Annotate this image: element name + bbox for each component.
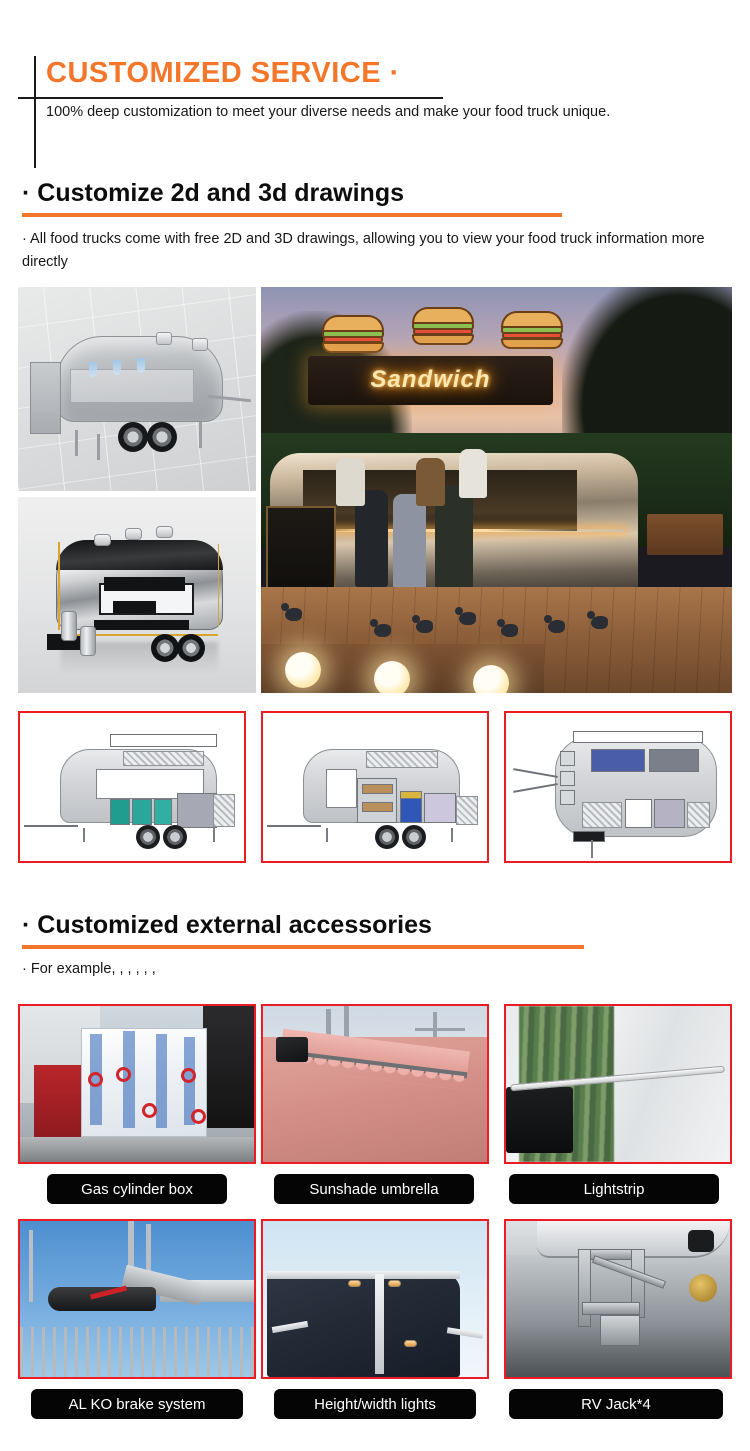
truck-dark-panel [203, 1006, 254, 1128]
jack-foot [600, 1315, 640, 1346]
jack-arm [578, 1249, 591, 1327]
section-2-title: · Customized external accessories [22, 910, 432, 943]
support-leg [591, 840, 593, 858]
power-pylon [29, 1230, 33, 1302]
banner-subtitle: 100% deep customization to meet your div… [46, 101, 706, 124]
globe-light [374, 661, 410, 693]
wheel [136, 825, 160, 849]
appliance-top [400, 791, 422, 798]
logo-ring [116, 1067, 131, 1082]
trailer-wheel [118, 422, 148, 452]
section-1-underline [22, 213, 562, 217]
photo-height-width-lights [261, 1219, 489, 1379]
brass-roller [689, 1274, 717, 1302]
side-panel [560, 751, 576, 766]
photo-rv-jack [504, 1219, 732, 1379]
pigeon [501, 624, 518, 637]
banner-vertical-rule [34, 56, 36, 168]
burger-sign-icon [322, 315, 384, 353]
drawing-2d-side-view-equipment [261, 711, 489, 863]
wheel [402, 825, 426, 849]
roof-vent [125, 528, 142, 540]
pylon-crossarm [415, 1028, 464, 1031]
pigeon [374, 624, 391, 637]
oven-shelf [362, 784, 393, 794]
gas-cylinder [80, 626, 96, 656]
cabinet [654, 799, 685, 829]
photo-lightstrip [504, 1004, 732, 1164]
interior-lamp [137, 358, 145, 373]
clearance-light [348, 1280, 361, 1287]
roof-vent [192, 338, 208, 351]
support-leg [199, 422, 202, 448]
customized-service-page: CUSTOMIZED SERVICE · 100% deep customiza… [0, 0, 750, 1451]
globe-light [285, 652, 321, 688]
trailer-chassis [20, 1137, 254, 1162]
label-alko-brake-system: AL KO brake system [31, 1389, 243, 1419]
interior-lamp [89, 362, 97, 377]
burger-sign-icon [412, 307, 474, 345]
interior-lamp [113, 360, 121, 375]
awning-mount-bracket [276, 1037, 307, 1062]
kitchen-unit [110, 799, 130, 826]
fold-down-shelf [113, 601, 156, 613]
tow-tongue [24, 825, 78, 827]
logo-ring [191, 1109, 206, 1124]
counter-gray [649, 749, 698, 773]
park-bench [647, 514, 722, 555]
pigeon [416, 620, 433, 633]
clearance-light [404, 1340, 417, 1347]
window-awning [104, 577, 185, 591]
pigeon [548, 620, 565, 633]
roof-vent [156, 332, 172, 345]
section-2-heading: · Customized external accessories [22, 910, 584, 949]
logo-ring [142, 1103, 157, 1118]
drawing-2d-floor-plan [504, 711, 732, 863]
cooking-range [177, 793, 217, 829]
hatched-panel [213, 794, 235, 827]
tow-tongue [513, 768, 557, 778]
roof-vent [94, 534, 111, 546]
support-leg [326, 828, 328, 842]
side-panel [560, 771, 576, 786]
render-3d-silver-trailer [18, 287, 256, 491]
kitchen-unit [132, 799, 152, 826]
pigeon [459, 612, 476, 625]
wheel [375, 825, 399, 849]
render-3d-chrome-trailer [18, 497, 256, 693]
tow-tongue [513, 783, 557, 793]
grill-unit [424, 793, 455, 823]
section-2-underline [22, 945, 584, 949]
alko-coupler-head [48, 1287, 156, 1312]
staff-member [336, 458, 364, 507]
accent-line [58, 542, 60, 630]
pigeon [285, 608, 302, 621]
substation-fence [20, 1327, 254, 1377]
accent-line [218, 544, 220, 626]
photo-sandwich-food-truck: Sandwich [261, 287, 732, 693]
logo-ring [88, 1072, 103, 1087]
burger-sign-icon [501, 311, 563, 349]
roof-hatch [366, 751, 438, 767]
jack-linkage [582, 1302, 640, 1314]
corner-post [375, 1274, 384, 1374]
hatched-area [582, 802, 622, 829]
roof-hatch [123, 751, 204, 766]
support-leg [83, 828, 85, 842]
roof-line [573, 731, 703, 743]
clearance-light [388, 1280, 401, 1287]
support-leg [451, 828, 453, 842]
kitchen-unit [154, 799, 172, 826]
staff-member [416, 458, 444, 507]
hatched-panel [456, 796, 478, 826]
gas-cylinder [61, 611, 77, 641]
section-1-description: · All food trucks come with free 2D and … [22, 228, 728, 274]
drawing-2d-side-view-kitchen [18, 711, 246, 863]
side-panel [560, 790, 576, 805]
support-leg [213, 828, 215, 842]
section-1-title: · Customize 2d and 3d drawings [22, 178, 404, 211]
red-storefront [34, 1065, 85, 1140]
photo-sunshade-umbrella [261, 1004, 489, 1164]
wheel [163, 825, 187, 849]
customer [393, 494, 426, 591]
door-opening [326, 769, 357, 807]
section-2-description: · For example, , , , , , [22, 958, 728, 981]
pigeon [591, 616, 608, 629]
staff-member [459, 449, 487, 498]
black-cap-fitting [688, 1230, 714, 1252]
trailer-roof [56, 540, 223, 569]
counter-blue [591, 749, 645, 773]
film-print [156, 1034, 168, 1128]
label-rv-jack: RV Jack*4 [509, 1389, 723, 1419]
photo-alko-brake-system [18, 1219, 256, 1379]
label-sunshade-umbrella: Sunshade umbrella [274, 1174, 474, 1204]
section-1-heading: · Customize 2d and 3d drawings [22, 178, 562, 217]
label-height-width-lights: Height/width lights [274, 1389, 476, 1419]
label-lightstrip: Lightstrip [509, 1174, 719, 1204]
oven-shelf [362, 802, 393, 812]
four-burner-stove [625, 799, 652, 829]
trailer-wheel [147, 422, 177, 452]
side-trim [94, 620, 189, 630]
tow-tongue [267, 825, 321, 827]
roof-vent [156, 526, 173, 538]
support-leg [75, 430, 78, 456]
banner-horizontal-rule [18, 97, 443, 99]
banner-title: CUSTOMIZED SERVICE · [46, 54, 400, 92]
marquee-sign-text: Sandwich [308, 358, 553, 403]
roof-rack [110, 734, 218, 747]
label-gas-cylinder-box: Gas cylinder box [47, 1174, 227, 1204]
trailer-rear-door [30, 362, 61, 433]
aluminium-roof-trim [267, 1271, 460, 1279]
support-leg [97, 434, 100, 460]
step [573, 831, 604, 841]
hatched-area [687, 802, 709, 829]
photo-gas-cylinder-box [18, 1004, 256, 1164]
blue-appliance [400, 796, 422, 823]
dark-panel [506, 1087, 573, 1153]
